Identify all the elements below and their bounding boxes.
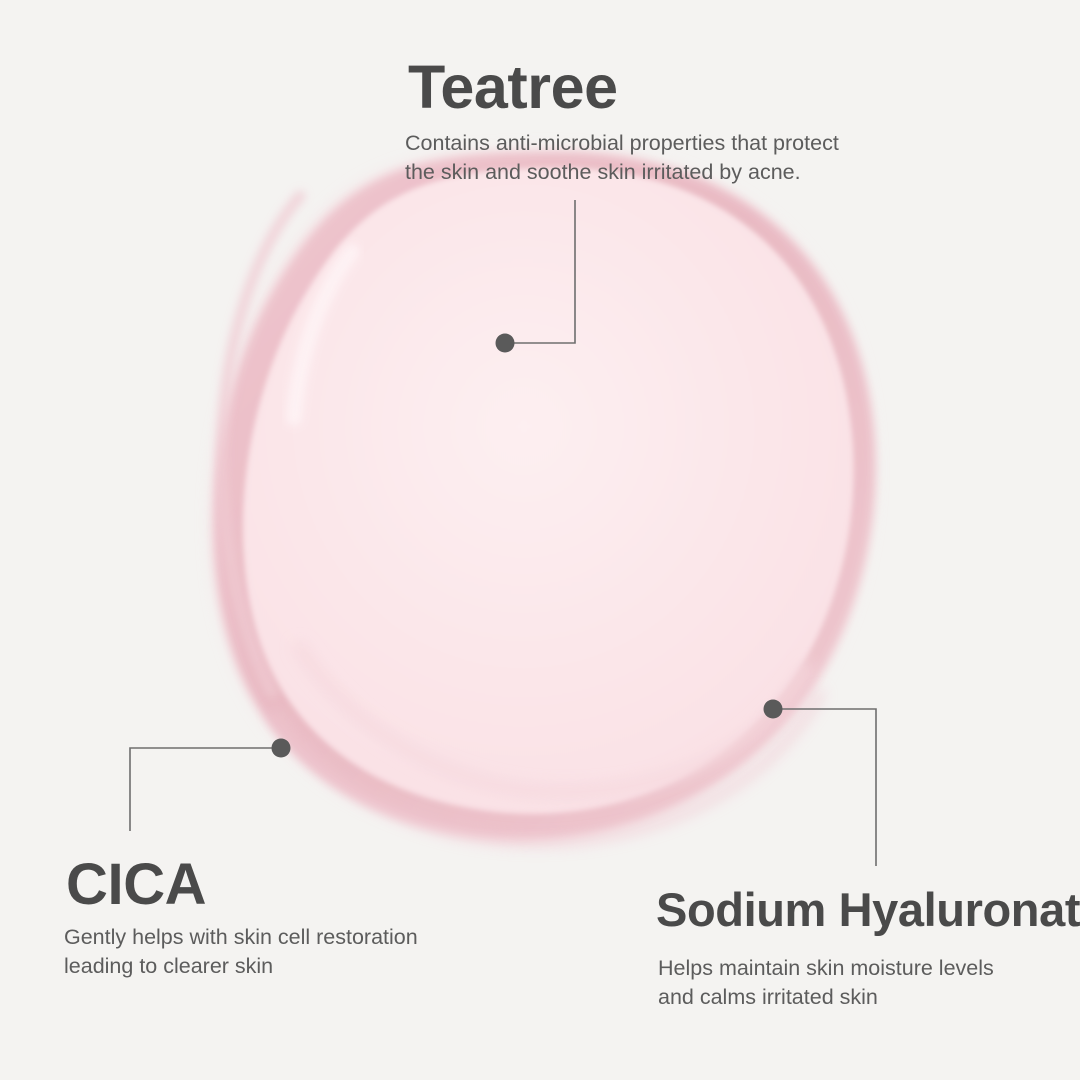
- callout-description-cica: Gently helps with skin cell restoration …: [64, 923, 418, 981]
- callout-title-cica: CICA: [66, 852, 418, 918]
- leader-line-teatree: [514, 200, 575, 343]
- leader-line-sodium-hyaluronate: [782, 709, 876, 866]
- callout-description-teatree: Contains anti-microbial properties that …: [405, 129, 839, 187]
- callout-dot-cica[interactable]: [272, 739, 291, 758]
- leader-line-cica: [130, 748, 272, 831]
- callout-title-teatree: Teatree: [408, 52, 839, 122]
- callout-sodium-hyaluronate: Sodium Hyaluronate Helps maintain skin m…: [656, 882, 1080, 1012]
- callout-description-sodium-hyaluronate: Helps maintain skin moisture levels and …: [658, 954, 1080, 1012]
- ingredient-infographic: Teatree Contains anti-microbial properti…: [0, 0, 1080, 1080]
- callout-teatree: Teatree Contains anti-microbial properti…: [405, 52, 839, 187]
- callout-cica: CICA Gently helps with skin cell restora…: [64, 852, 418, 981]
- callout-dot-teatree[interactable]: [496, 334, 515, 353]
- callout-dot-sodium-hyaluronate[interactable]: [764, 700, 783, 719]
- callout-title-sodium-hyaluronate: Sodium Hyaluronate: [656, 882, 1080, 938]
